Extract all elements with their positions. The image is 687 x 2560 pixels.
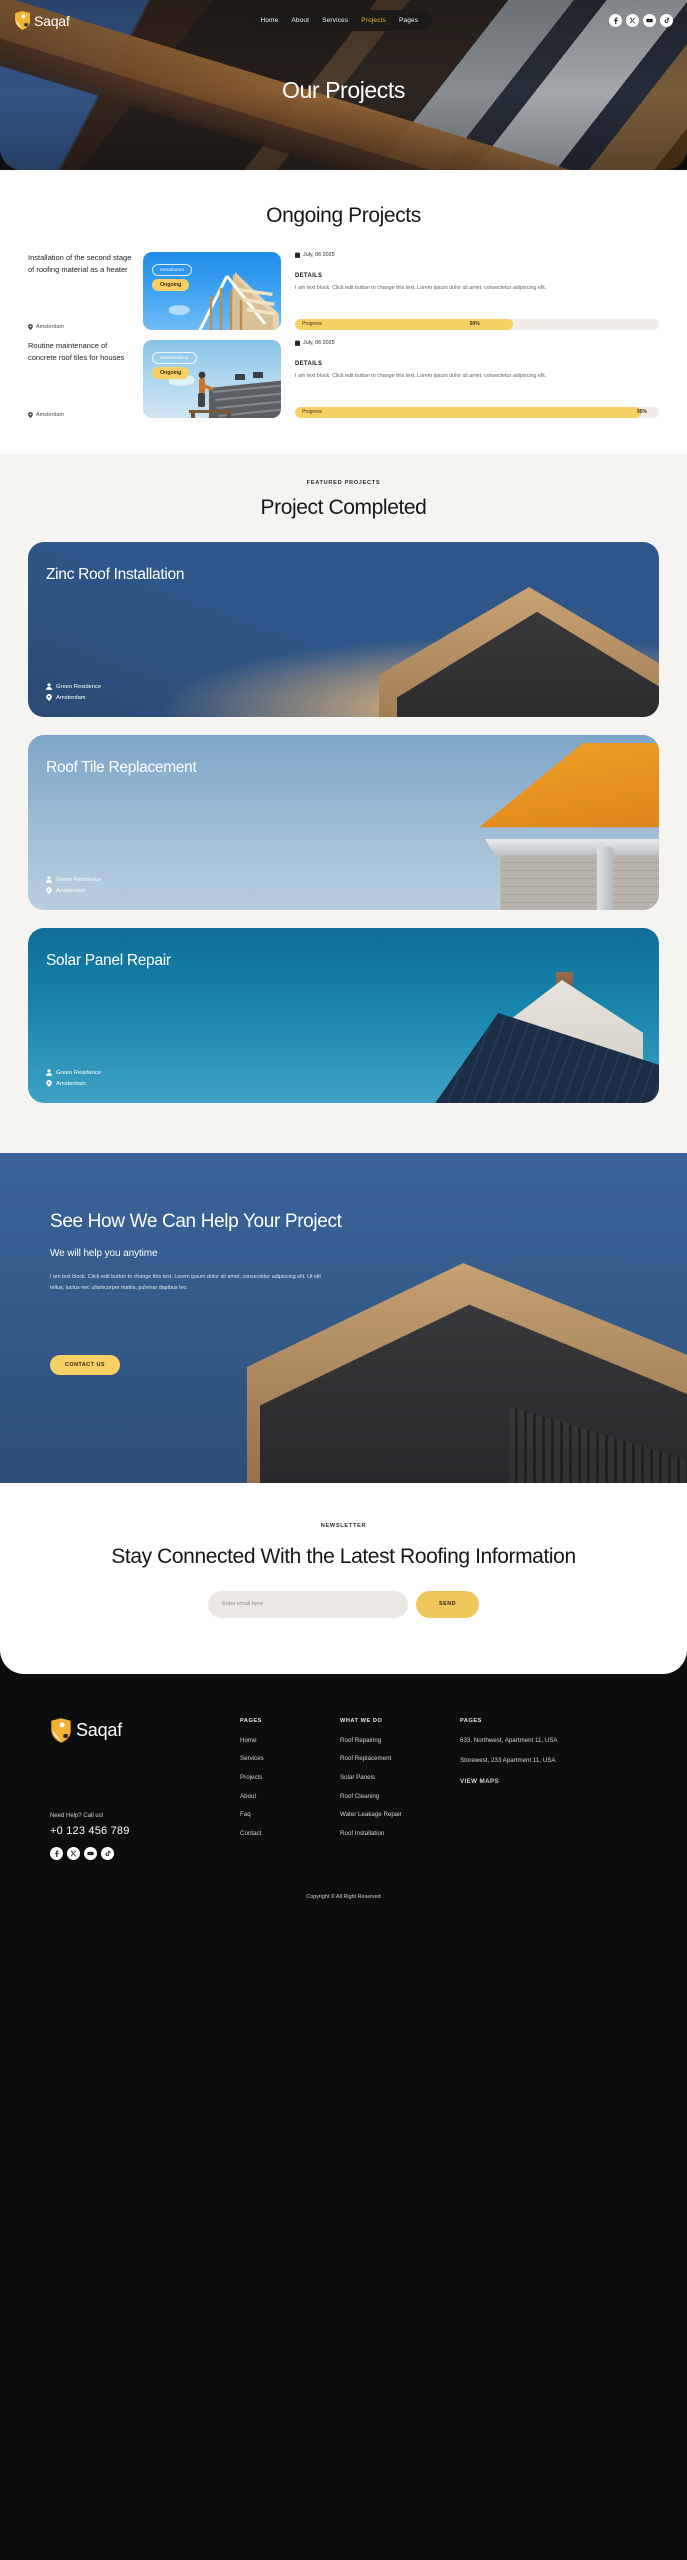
facebook-icon[interactable] (50, 1847, 63, 1860)
ongoing-project-image: Installation Ongoing (143, 252, 281, 330)
ongoing-details-text: I am text block. Click edit button to ch… (295, 372, 659, 382)
ongoing-project-details: July, 06 2025 DETAILS I am text block. C… (281, 340, 659, 418)
footer-address-heading: PAGES (460, 1718, 637, 1724)
ongoing-projects-section: Ongoing Projects Installation of the sec… (0, 170, 687, 454)
ongoing-project-image: Maintenance Ongoing (143, 340, 281, 418)
ongoing-category-tag: Installation (152, 264, 192, 276)
top-navigation-bar: Saqaf Home About Services Projects Pages (0, 0, 687, 31)
nav-item-services[interactable]: Services (322, 17, 348, 24)
footer-brand-name: Saqaf (76, 1720, 122, 1741)
footer-link-roof-cleaning[interactable]: Roof Cleaning (340, 1792, 460, 1802)
featured-card-title: Zinc Roof Installation (46, 566, 641, 584)
progress-value: 60% (470, 319, 480, 330)
featured-project-card[interactable]: Solar Panel Repair Green Residence Amste… (28, 928, 659, 1103)
progress-bar: Progress 95% (295, 407, 659, 418)
nav-item-pages[interactable]: Pages (399, 17, 418, 24)
footer-phone[interactable]: +0 123 456 789 (50, 1825, 240, 1837)
card-location-text: Amsterdam (56, 1081, 86, 1087)
card-client-text: Green Residence (56, 1070, 101, 1076)
cta-heading: See How We Can Help Your Project (50, 1209, 687, 1234)
card-client: Green Residence (46, 876, 101, 883)
card-location: Amsterdam (46, 694, 101, 701)
progress-bar-fill (295, 319, 513, 330)
ongoing-details-text: I am text block. Click edit button to ch… (295, 284, 659, 294)
tiktok-icon[interactable] (101, 1847, 114, 1860)
newsletter-title: Stay Connected With the Latest Roofing I… (0, 1543, 687, 1571)
card-location-text: Amsterdam (56, 888, 86, 894)
page-root: Saqaf Home About Services Projects Pages (0, 0, 687, 1922)
nav-item-projects[interactable]: Projects (361, 17, 386, 24)
ongoing-section-title: Ongoing Projects (0, 204, 687, 228)
cta-body-text: I am text block. Click edit button to ch… (50, 1272, 328, 1293)
footer-link-projects[interactable]: Projects (240, 1773, 340, 1783)
footer-pages-heading: PAGES (240, 1718, 340, 1724)
card-client-text: Green Residence (56, 684, 101, 690)
ongoing-project-date: July, 06 2025 (295, 340, 659, 346)
progress-bar: Progress 60% (295, 319, 659, 330)
footer-help-text: Need Help? Call us! (50, 1813, 240, 1819)
footer-link-faq[interactable]: Faq (240, 1810, 340, 1820)
ongoing-location-text: Amsterdam (36, 412, 64, 418)
hero-section: Saqaf Home About Services Projects Pages (0, 0, 687, 170)
card-client-text: Green Residence (56, 877, 101, 883)
footer-link-solar-panels[interactable]: Solar Panels (340, 1773, 460, 1783)
footer-social-links (50, 1847, 240, 1860)
ongoing-status-tag: Ongoing (152, 279, 189, 291)
footer-link-home[interactable]: Home (240, 1736, 340, 1746)
footer-link-services[interactable]: Services (240, 1754, 340, 1764)
footer-link-water-leakage-repair[interactable]: Water Leakage Repair (340, 1810, 460, 1820)
ongoing-project-date: July, 06 2025 (295, 252, 659, 258)
footer-column-address: PAGES 633, Northwest, Apartment 11, USA … (460, 1718, 637, 1860)
cta-section: See How We Can Help Your Project We will… (0, 1153, 687, 1483)
ongoing-status-tag: Ongoing (152, 367, 189, 379)
roof-shield-logo-icon (14, 11, 31, 30)
nav-item-home[interactable]: Home (260, 17, 278, 24)
ongoing-project-location: Amsterdam (28, 324, 137, 330)
featured-card-meta: Green Residence Amsterdam (46, 872, 101, 894)
x-twitter-icon[interactable] (626, 14, 639, 27)
cta-subheading: We will help you anytime (50, 1248, 687, 1259)
contact-us-button[interactable]: CONTACT US (50, 1355, 120, 1375)
featured-eyebrow: FEATURED PROJECTS (0, 480, 687, 486)
ongoing-project-heading: Installation of the second stage of roof… (28, 252, 137, 275)
progress-value: 95% (637, 407, 647, 418)
main-nav-menu: Home About Services Projects Pages (246, 10, 432, 31)
footer-brand-block: Saqaf Need Help? Call us! +0 123 456 789 (50, 1718, 240, 1860)
youtube-icon[interactable] (84, 1847, 97, 1860)
footer-address-1: 633, Northwest, Apartment 11, USA (460, 1736, 637, 1746)
x-twitter-icon[interactable] (67, 1847, 80, 1860)
card-location: Amsterdam (46, 887, 101, 894)
footer-address-2: Storewest, 233 Apartment 11, USA (460, 1756, 637, 1766)
ongoing-date-text: July, 06 2025 (303, 252, 335, 258)
footer-link-roof-installation[interactable]: Roof Installation (340, 1829, 460, 1839)
brand-logo[interactable]: Saqaf (14, 11, 70, 30)
details-label: DETAILS (295, 361, 659, 367)
roof-shield-logo-icon (50, 1718, 72, 1743)
ongoing-project-row: Routine maintenance of concrete roof til… (0, 340, 687, 418)
view-maps-link[interactable]: VIEW MAPS (460, 1777, 637, 1787)
brand-name-text: Saqaf (34, 13, 70, 29)
featured-project-card[interactable]: Roof Tile Replacement Green Residence Am… (28, 735, 659, 910)
featured-card-meta: Green Residence Amsterdam (46, 1065, 101, 1087)
footer-link-about[interactable]: About (240, 1792, 340, 1802)
featured-card-title: Roof Tile Replacement (46, 759, 641, 777)
footer-column-what-we-do: WHAT WE DO Roof Repairing Roof Replaceme… (340, 1718, 460, 1860)
youtube-icon[interactable] (643, 14, 656, 27)
ongoing-project-info: Installation of the second stage of roof… (28, 252, 143, 330)
footer-link-roof-replacement[interactable]: Roof Replacement (340, 1754, 460, 1764)
progress-bar-fill (295, 407, 641, 418)
nav-item-about[interactable]: About (291, 17, 309, 24)
card-location: Amsterdam (46, 1080, 101, 1087)
ongoing-category-tag: Maintenance (152, 352, 197, 364)
ongoing-location-text: Amsterdam (36, 324, 64, 330)
footer-link-contact[interactable]: Contact (240, 1829, 340, 1839)
card-client: Green Residence (46, 683, 101, 690)
ongoing-project-info: Routine maintenance of concrete roof til… (28, 340, 143, 418)
copyright-text: Copyright © All Right Reserved (0, 1894, 687, 1900)
footer-columns: Saqaf Need Help? Call us! +0 123 456 789 (0, 1718, 687, 1860)
page-title: Our Projects (0, 77, 687, 104)
footer-link-roof-repairing[interactable]: Roof Repairing (340, 1736, 460, 1746)
card-client: Green Residence (46, 1069, 101, 1076)
footer-what-we-do-heading: WHAT WE DO (340, 1718, 460, 1724)
email-input[interactable] (208, 1591, 408, 1618)
newsletter-eyebrow: NEWSLETTER (0, 1523, 687, 1529)
ongoing-project-heading: Routine maintenance of concrete roof til… (28, 340, 137, 363)
featured-card-meta: Green Residence Amsterdam (46, 679, 101, 701)
header-social-links (609, 14, 673, 27)
featured-projects-section: FEATURED PROJECTS Project Completed Zinc… (0, 454, 687, 1153)
details-label: DETAILS (295, 273, 659, 279)
featured-section-title: Project Completed (0, 496, 687, 520)
footer-column-pages: PAGES Home Services Projects About Faq C… (240, 1718, 340, 1860)
progress-label: Progress (302, 319, 322, 330)
tiktok-icon[interactable] (660, 14, 673, 27)
send-button[interactable]: SEND (416, 1591, 479, 1618)
cta-content: See How We Can Help Your Project We will… (0, 1153, 687, 1375)
facebook-icon[interactable] (609, 14, 622, 27)
featured-card-title: Solar Panel Repair (46, 952, 641, 970)
card-location-text: Amsterdam (56, 695, 86, 701)
site-footer: Saqaf Need Help? Call us! +0 123 456 789 (0, 1674, 687, 1922)
featured-project-card[interactable]: Zinc Roof Installation Green Residence A… (28, 542, 659, 717)
ongoing-project-details: July, 06 2025 DETAILS I am text block. C… (281, 252, 659, 330)
newsletter-section: NEWSLETTER Stay Connected With the Lates… (0, 1483, 687, 1674)
newsletter-form: SEND (0, 1591, 687, 1618)
progress-label: Progress (302, 407, 322, 418)
ongoing-project-row: Installation of the second stage of roof… (0, 252, 687, 330)
ongoing-project-location: Amsterdam (28, 412, 137, 418)
footer-logo[interactable]: Saqaf (50, 1718, 240, 1743)
ongoing-date-text: July, 06 2025 (303, 340, 335, 346)
